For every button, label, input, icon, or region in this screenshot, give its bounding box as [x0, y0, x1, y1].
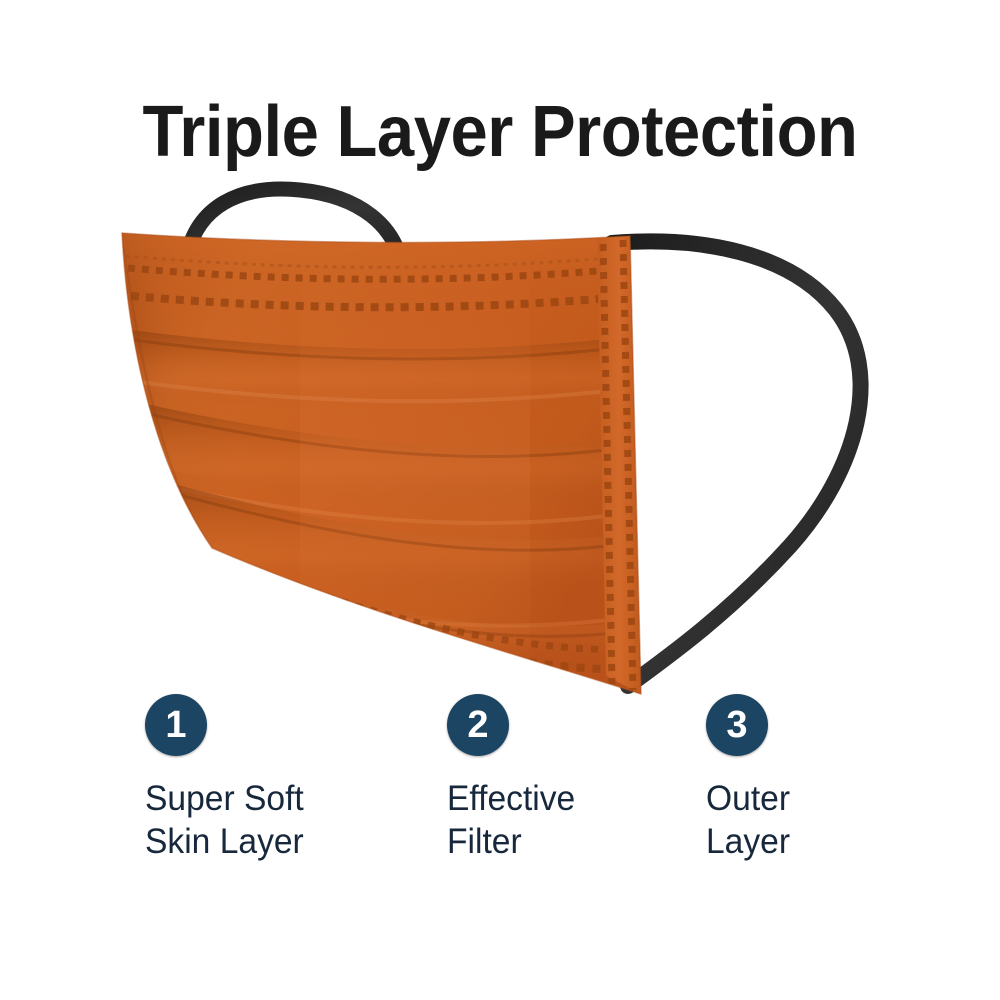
stitch-rows-top	[126, 256, 633, 307]
feature-item-1: 1 Super Soft Skin Layer	[145, 694, 405, 863]
mask-body	[118, 225, 641, 705]
mask-body-shape	[122, 233, 641, 694]
feature-list: 1 Super Soft Skin Layer 2 Effective Filt…	[0, 694, 1000, 924]
feature-label-3: Outer Layer	[706, 778, 956, 863]
page-title: Triple Layer Protection	[35, 96, 965, 168]
feature-badge-2: 2	[447, 694, 509, 756]
ear-loop-right	[612, 241, 861, 686]
product-infographic: Triple Layer Protection	[0, 0, 1000, 1000]
feature-badge-3: 3	[706, 694, 768, 756]
stitch-rows-bottom	[206, 556, 640, 670]
ear-loop-left	[186, 189, 402, 268]
feature-label-1: Super Soft Skin Layer	[145, 778, 395, 863]
feature-item-3: 3 Outer Layer	[706, 694, 966, 863]
feature-badge-1: 1	[145, 694, 207, 756]
feature-item-2: 2 Effective Filter	[447, 694, 707, 863]
feature-label-2: Effective Filter	[447, 778, 697, 863]
mask-right-hem	[597, 236, 641, 694]
